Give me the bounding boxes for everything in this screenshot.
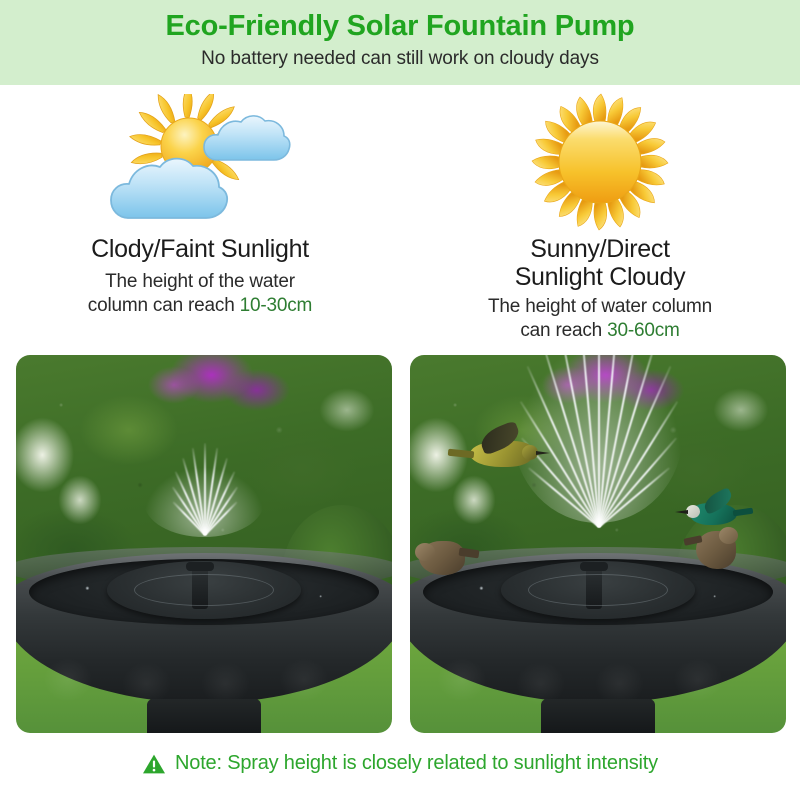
spray-mist-low xyxy=(144,467,264,537)
caption-heading-sunny: Sunny/Direct Sunlight Cloudy xyxy=(515,235,686,291)
height-range-cloudy: 10-30cm xyxy=(240,295,313,316)
caption-body-line1: The height of water column xyxy=(488,296,712,317)
note-text: Note: Spray height is closely related to… xyxy=(175,752,658,775)
hummingbird-green xyxy=(691,503,737,525)
hummingbird-yellow xyxy=(470,441,532,467)
warning-triangle-icon xyxy=(142,753,166,775)
sun-behind-clouds-icon xyxy=(105,91,295,233)
column-sunny: Sunny/Direct Sunlight Cloudy The height … xyxy=(400,85,800,350)
bird-bath-bowl xyxy=(16,539,392,725)
page-title: Eco-Friendly Solar Fountain Pump xyxy=(0,8,800,44)
bird-bath-pedestal xyxy=(147,699,261,733)
sparrow-left xyxy=(419,541,465,575)
height-range-sunny: 30-60cm xyxy=(607,320,680,341)
caption-body-sunny: The height of water column can reach 30-… xyxy=(488,295,712,343)
bird-bath-pedestal xyxy=(541,699,655,733)
caption-heading-cloudy: Clody/Faint Sunlight xyxy=(91,235,309,263)
solar-panel-disc xyxy=(107,561,302,619)
fountain-low-spray-photo xyxy=(16,355,392,733)
sparrow-right xyxy=(696,531,736,569)
pump-nozzle xyxy=(192,567,208,609)
comparison-columns: Clody/Faint Sunlight The height of the w… xyxy=(0,85,800,350)
bird-bath-bowl xyxy=(410,539,786,725)
caption-body-line2: can reach xyxy=(520,320,607,341)
pump-nozzle xyxy=(586,567,602,609)
caption-body-line2: column can reach xyxy=(88,295,240,316)
caption-heading-line2: Sunlight Cloudy xyxy=(515,263,686,291)
caption-heading-line1: Sunny/Direct xyxy=(530,235,670,263)
header-banner: Eco-Friendly Solar Fountain Pump No batt… xyxy=(0,0,800,85)
full-sun-icon xyxy=(522,91,678,233)
column-cloudy: Clody/Faint Sunlight The height of the w… xyxy=(0,85,400,350)
page-subtitle: No battery needed can still work on clou… xyxy=(0,44,800,74)
caption-body-line1: The height of the water xyxy=(105,271,295,292)
solar-panel-disc xyxy=(501,561,696,619)
caption-body-cloudy: The height of the water column can reach… xyxy=(88,270,312,318)
photo-row xyxy=(0,350,800,735)
fountain-high-spray-photo xyxy=(410,355,786,733)
footer-note: Note: Spray height is closely related to… xyxy=(0,752,800,775)
